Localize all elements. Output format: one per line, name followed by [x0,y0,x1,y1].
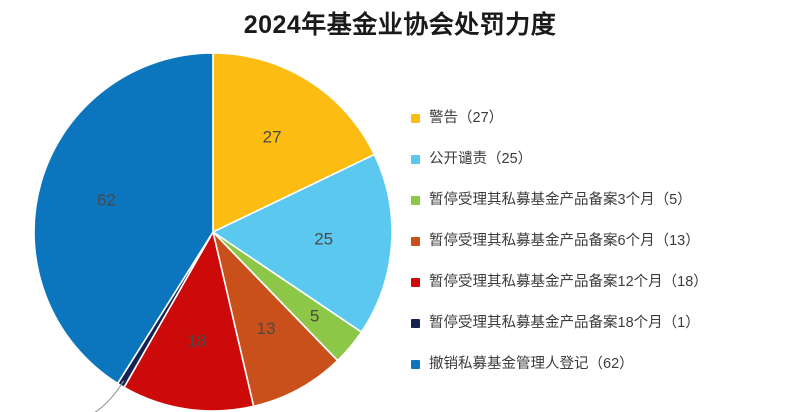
pie-slice-value: 62 [97,191,116,210]
legend-item[interactable]: 警告（27） [411,98,800,139]
pie-slice-value: 27 [263,128,282,147]
legend-color-swatch [411,196,420,205]
legend-color-swatch [411,155,420,164]
pie-slice-value: 18 [187,331,206,350]
legend-item[interactable]: 公开谴责（25） [411,139,800,180]
legend-item[interactable]: 暂停受理其私募基金产品备案3个月（5） [411,180,800,221]
pie-label-leader-line [63,381,124,412]
legend-item-label: 暂停受理其私募基金产品备案18个月（1） [429,316,700,331]
legend-item-label: 暂停受理其私募基金产品备案6个月（13） [429,234,700,249]
legend-item[interactable]: 暂停受理其私募基金产品备案18个月（1） [411,303,800,344]
pie-slice-group [34,53,392,411]
legend-item-label: 警告（27） [429,111,503,126]
legend-color-swatch [411,278,420,287]
legend-item[interactable]: 撤销私募基金管理人登记（62） [411,344,800,385]
pie-slice-value: 5 [310,307,319,326]
legend-color-swatch [411,319,420,328]
legend-item-label: 撤销私募基金管理人登记（62） [429,357,634,372]
pie-chart-svg: 272551318162 [0,0,430,412]
legend-color-swatch [411,360,420,369]
legend-item[interactable]: 暂停受理其私募基金产品备案12个月（18） [411,262,800,303]
chart-canvas: 2024年基金业协会处罚力度 272551318162 警告（27）公开谴责（2… [0,0,800,412]
legend-color-swatch [411,114,420,123]
legend-color-swatch [411,237,420,246]
legend-item-label: 暂停受理其私募基金产品备案12个月（18） [429,275,708,290]
pie-leader-line-group [63,381,124,412]
legend-item[interactable]: 暂停受理其私募基金产品备案6个月（13） [411,221,800,262]
pie-slice-value: 25 [314,230,333,249]
legend-item-label: 公开谴责（25） [429,152,532,167]
legend-item-label: 暂停受理其私募基金产品备案3个月（5） [429,193,692,208]
legend: 警告（27）公开谴责（25）暂停受理其私募基金产品备案3个月（5）暂停受理其私募… [411,98,800,385]
pie-chart-area: 272551318162 [0,0,430,412]
pie-slice-value: 13 [257,319,276,338]
